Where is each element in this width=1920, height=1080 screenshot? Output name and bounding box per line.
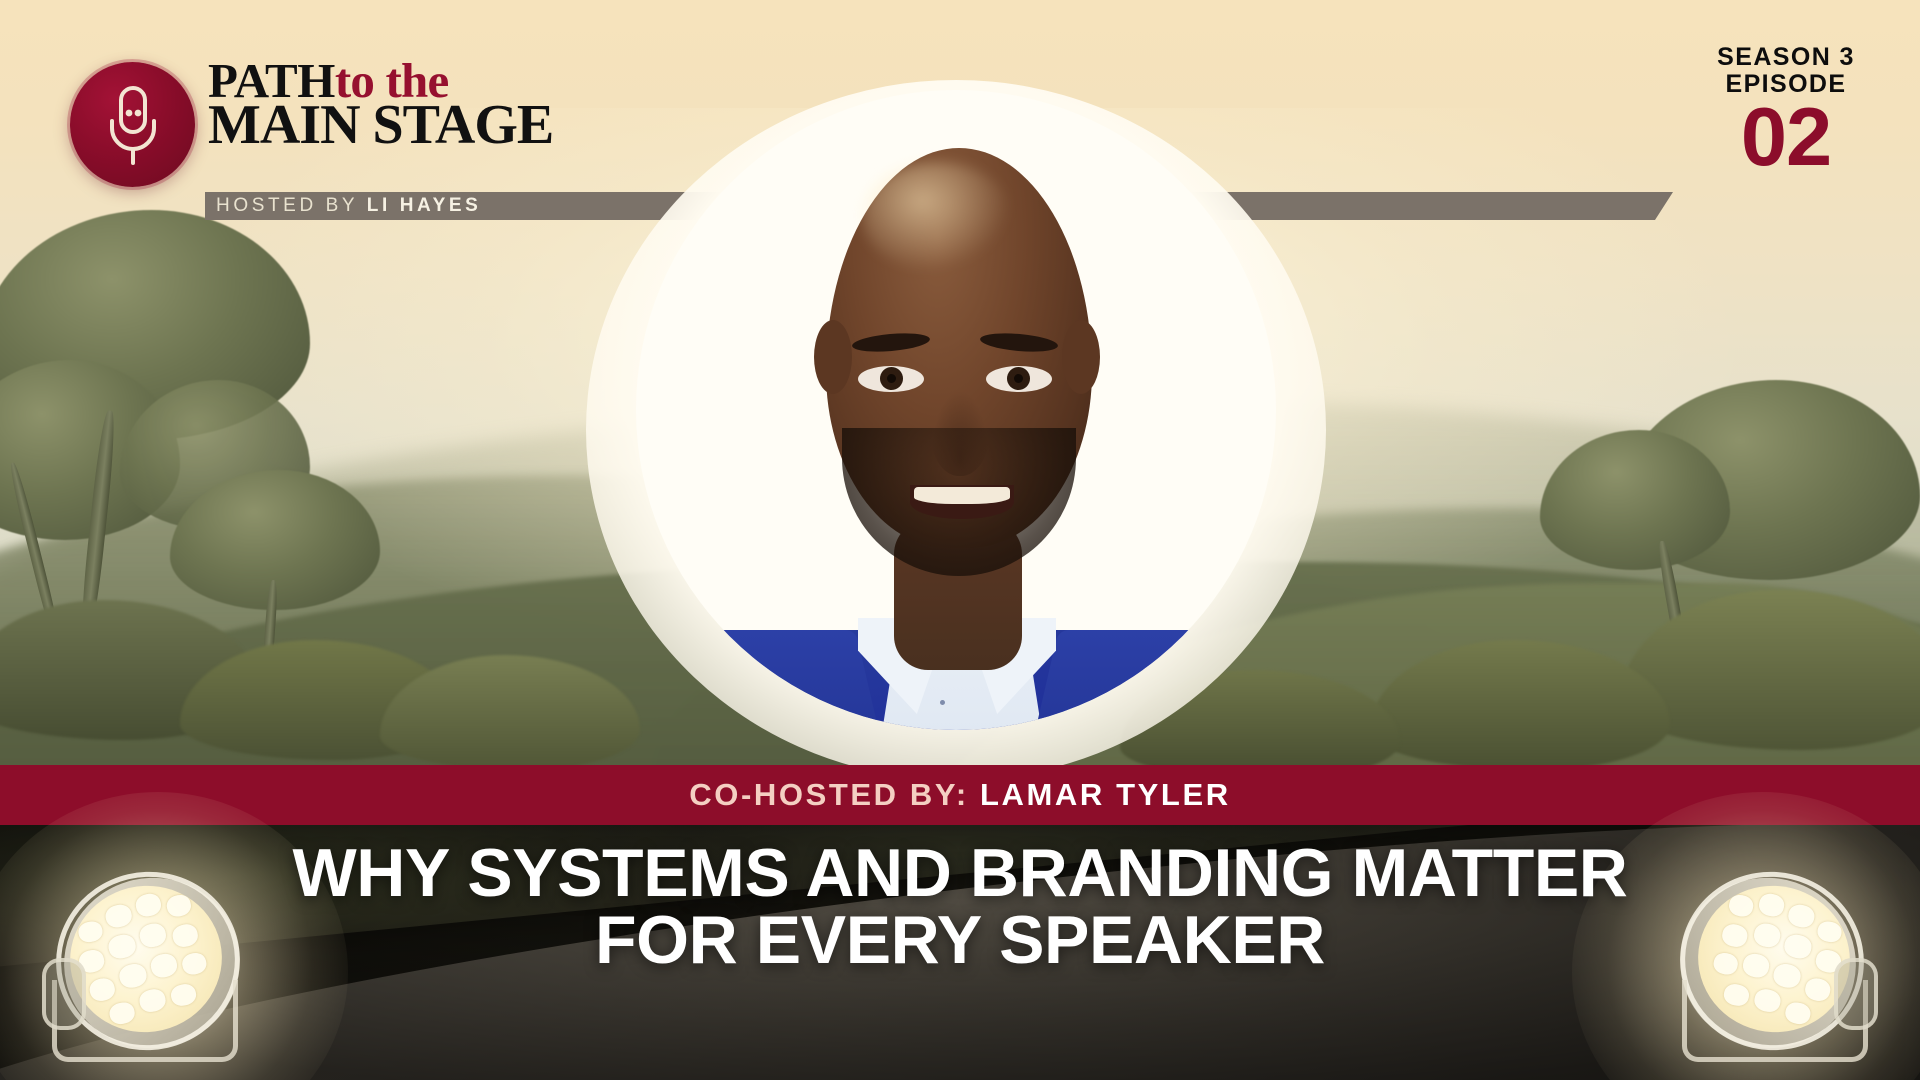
wordmark: PATHto the MAIN STAGE — [208, 58, 648, 152]
episode-title: WHY SYSTEMS AND BRANDING MATTER FOR EVER… — [0, 840, 1920, 973]
ear-left — [814, 320, 852, 394]
season-label: SEASON 3 — [1696, 44, 1876, 71]
podcast-episode-cover: PATHto the MAIN STAGE HOSTED BY LI HAYES… — [0, 0, 1920, 1080]
portrait-circle — [636, 90, 1276, 730]
cohost-name: LAMAR TYLER — [980, 777, 1231, 812]
wordmark-line-2: MAIN STAGE — [208, 99, 648, 152]
ear-right — [1062, 320, 1100, 394]
host-name: LI HAYES — [367, 195, 482, 216]
pupil-left — [887, 374, 896, 383]
pupil-right — [1014, 374, 1023, 383]
cohost-banner: CO-HOSTED BY: LAMAR TYLER — [0, 765, 1920, 825]
scalp-highlight — [862, 162, 1012, 272]
episode-badge: SEASON 3 EPISODE 02 — [1696, 44, 1876, 175]
episode-number: 02 — [1696, 99, 1876, 175]
host-credit: HOSTED BY LI HAYES — [216, 195, 481, 217]
cohost-prefix: CO-HOSTED BY: — [689, 777, 969, 812]
mouth — [910, 485, 1014, 519]
cohost-text: CO-HOSTED BY: LAMAR TYLER — [689, 777, 1230, 813]
guest-headshot-image — [636, 90, 1276, 730]
episode-title-line-1: WHY SYSTEMS AND BRANDING MATTER — [292, 835, 1627, 911]
guest-portrait — [586, 80, 1326, 780]
episode-title-line-2: FOR EVERY SPEAKER — [150, 907, 1770, 974]
host-prefix: HOSTED BY — [216, 195, 358, 216]
microphone-icon — [70, 62, 195, 187]
teeth — [914, 487, 1010, 504]
